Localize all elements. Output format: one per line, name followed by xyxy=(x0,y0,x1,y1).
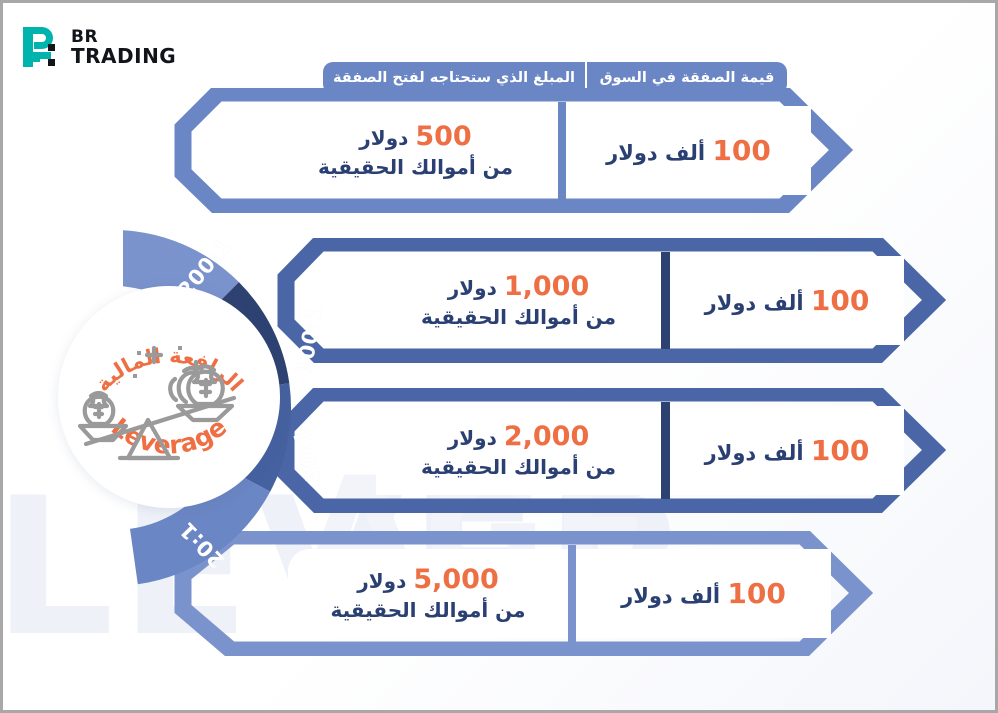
cost-amount-line: 1,000 دولار xyxy=(448,270,589,305)
market-unit: ألف دولار xyxy=(705,291,804,315)
row-divider xyxy=(558,102,566,199)
table-row: 1,000 دولار من أموالك الحقيقية 100 ألف د… xyxy=(258,238,948,363)
cost-amount-line: 2,000 دولار xyxy=(448,420,589,455)
cost-subtitle: من أموالك الحقيقية xyxy=(330,598,525,624)
br-logo-mark-icon xyxy=(21,25,63,71)
cost-amount: 1,000 xyxy=(504,271,589,302)
table-row: 500 دولار من أموالك الحقيقية 100 ألف دول… xyxy=(163,88,883,213)
table-row: 2,000 دولار من أموالك الحقيقية 100 ألف د… xyxy=(258,388,948,513)
market-panel: 100 ألف دولار xyxy=(670,406,904,495)
infographic-canvas: LEVER AGE BR TRADING المبلغ الذي ستحتاجه… xyxy=(0,0,998,713)
cost-unit: دولار xyxy=(357,569,406,593)
cost-panel: 2,000 دولار من أموالك الحقيقية xyxy=(376,406,661,495)
cost-amount: 5,000 xyxy=(413,564,498,595)
market-amount-line: 100 ألف دولار xyxy=(621,576,786,612)
brand-logo: BR TRADING xyxy=(21,25,176,71)
market-amount: 100 xyxy=(712,134,770,167)
market-unit: ألف دولار xyxy=(606,141,705,165)
row-divider xyxy=(661,402,670,499)
cost-amount: 2,000 xyxy=(504,421,589,452)
brand-logo-text: BR TRADING xyxy=(71,29,176,67)
cost-panel: 1,000 دولار من أموالك الحقيقية xyxy=(376,256,661,345)
cost-unit: دولار xyxy=(359,126,408,150)
cost-panel: 5,000 دولار من أموالك الحقيقية xyxy=(288,549,568,638)
market-amount-line: 100 ألف دولار xyxy=(705,433,870,469)
row-divider xyxy=(568,545,576,642)
market-panel: 100 ألف دولار xyxy=(670,256,904,345)
market-amount-line: 100 ألف دولار xyxy=(705,283,870,319)
leverage-center-disc: الرافعة المالية Leverage xyxy=(58,286,280,508)
brand-line-2: TRADING xyxy=(71,46,176,66)
cost-amount: 500 xyxy=(415,121,471,152)
market-amount: 100 xyxy=(811,284,869,317)
market-unit: ألف دولار xyxy=(705,441,804,465)
cost-subtitle: من أموالك الحقيقية xyxy=(421,455,616,481)
market-panel: 100 ألف دولار xyxy=(566,106,811,195)
market-amount-line: 100 ألف دولار xyxy=(606,133,771,169)
cost-unit: دولار xyxy=(448,426,497,450)
market-amount: 100 xyxy=(811,434,869,467)
market-unit: ألف دولار xyxy=(621,584,720,608)
cost-amount-line: 500 دولار xyxy=(359,120,471,155)
cost-amount-line: 5,000 دولار xyxy=(357,563,498,598)
row-divider xyxy=(661,252,670,349)
market-amount: 100 xyxy=(727,577,785,610)
cost-subtitle: من أموالك الحقيقية xyxy=(318,155,513,181)
infographic-background: LEVER AGE BR TRADING المبلغ الذي ستحتاجه… xyxy=(3,3,995,710)
cost-subtitle: من أموالك الحقيقية xyxy=(421,305,616,331)
cost-unit: دولار xyxy=(448,276,497,300)
market-panel: 100 ألف دولار xyxy=(576,549,831,638)
cost-panel: 500 دولار من أموالك الحقيقية xyxy=(273,106,558,195)
